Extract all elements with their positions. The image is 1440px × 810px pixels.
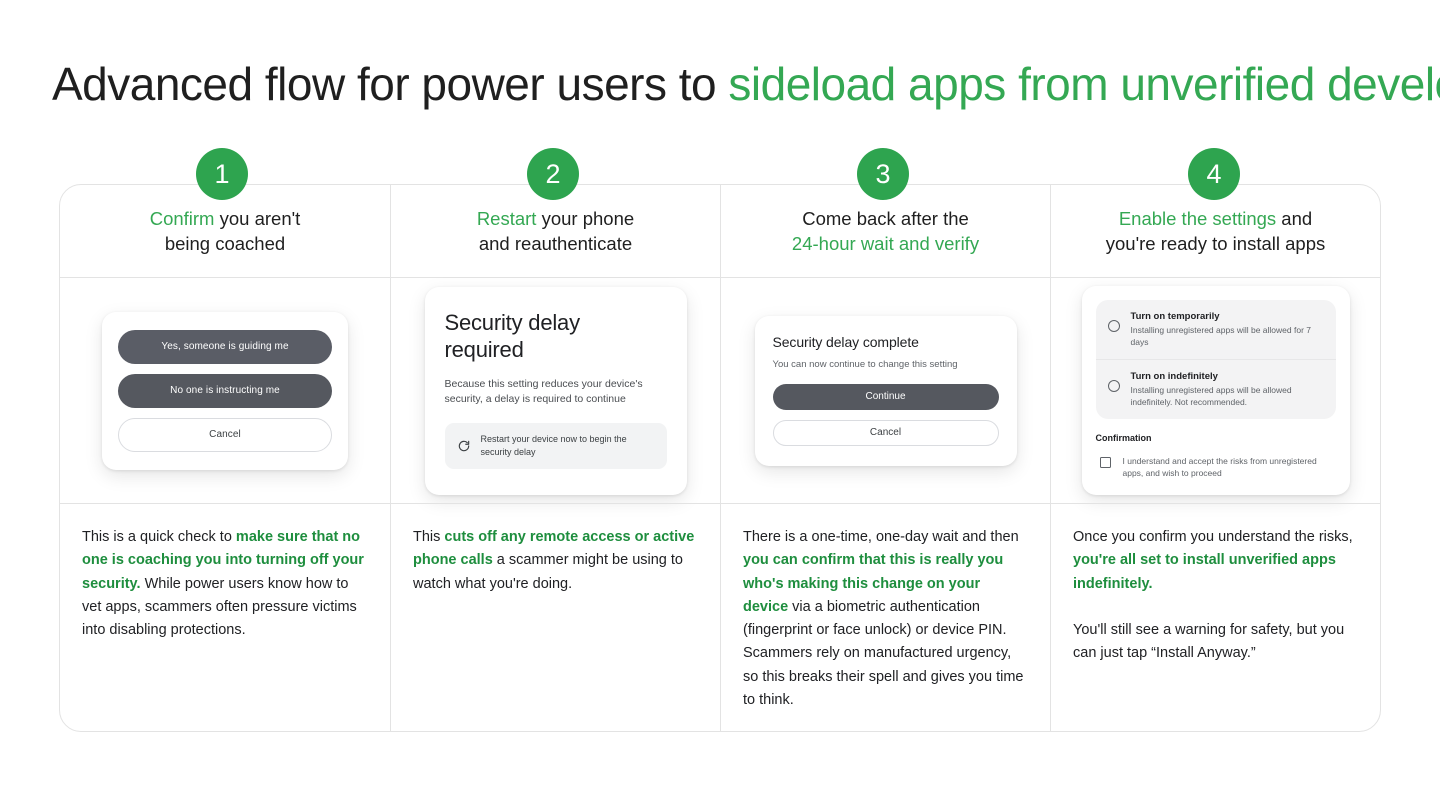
option-title: Turn on temporarily [1131,311,1324,322]
steps-grid: Confirm you aren't being coached Restart… [59,184,1381,732]
step-header-2-green: Restart [477,208,537,229]
option-turn-on-indefinitely[interactable]: Turn on indefinitely Installing unregist… [1096,359,1336,419]
delay-complete-title: Security delay complete [773,334,999,350]
infographic-page: Advanced flow for power users to sideloa… [0,0,1440,810]
security-delay-title: Security delay required [445,309,667,363]
restart-notice: Restart your device now to begin the sec… [445,423,667,469]
confirmation-row[interactable]: I understand and accept the risks from u… [1096,455,1336,479]
cancel-button[interactable]: Cancel [118,418,332,452]
cancel-button[interactable]: Cancel [773,420,999,446]
option-group: Turn on temporarily Installing unregiste… [1096,300,1336,419]
body-paragraph: You'll still see a warning for safety, b… [1073,619,1358,666]
checkbox-icon[interactable] [1100,457,1111,468]
step-badge-2: 2 [527,148,579,200]
page-title: Advanced flow for power users to sideloa… [52,57,1392,111]
continue-button[interactable]: Continue [773,384,999,410]
option-no-one-instructing-button[interactable]: No one is instructing me [118,374,332,408]
step-header-1-rest: you aren't [214,208,300,229]
step-header-2-line2: and reauthenticate [479,233,632,254]
step-body-1: This is a quick check to make sure that … [60,503,390,731]
step-header-4-green: Enable the settings [1119,208,1276,229]
security-delay-card: Security delay required Because this set… [425,287,687,495]
restart-notice-text: Restart your device now to begin the sec… [481,433,655,459]
refresh-icon [457,439,471,453]
step-header-3-line2: 24-hour wait and verify [792,233,979,254]
step-header-1-line2: being coached [165,233,285,254]
choice-dialog-card: Yes, someone is guiding me No one is ins… [102,312,348,470]
security-delay-subtitle: Because this setting reduces your device… [445,377,667,407]
security-delay-title-line1: Security delay [445,310,580,335]
plain-text: There is a one-time, one-day wait and th… [743,529,1019,545]
radio-icon[interactable] [1108,380,1120,392]
step-header-4-rest: and [1276,208,1312,229]
body-copy-4: Once you confirm you understand the risk… [1073,526,1358,665]
option-turn-on-temporarily[interactable]: Turn on temporarily Installing unregiste… [1096,300,1336,359]
option-title: Turn on indefinitely [1131,371,1324,382]
step-header-4-line2: you're ready to install apps [1106,233,1326,254]
step-body-3: There is a one-time, one-day wait and th… [720,503,1050,731]
confirmation-label: Confirmation [1096,433,1336,443]
delay-complete-card: Security delay complete You can now cont… [755,316,1017,466]
step-mockup-4: Turn on temporarily Installing unregiste… [1050,277,1380,503]
delay-complete-subtitle: You can now continue to change this sett… [773,359,999,370]
body-paragraph: This is a quick check to make sure that … [82,526,368,642]
body-paragraph: Once you confirm you understand the risk… [1073,526,1358,596]
plain-text: via a biometric authentication (fingerpr… [743,599,1023,708]
page-title-lead: Advanced flow for power users to [52,58,728,110]
plain-text: Once you confirm you understand the risk… [1073,529,1353,545]
plain-text: This [413,529,444,545]
option-description: Installing unregistered apps will be all… [1131,324,1324,348]
step-badge-1: 1 [196,148,248,200]
radio-icon[interactable] [1108,320,1120,332]
plain-text: This is a quick check to [82,529,236,545]
option-guiding-me-button[interactable]: Yes, someone is guiding me [118,330,332,364]
step-badge-4: 4 [1188,148,1240,200]
page-title-accent: sideload apps from unverified developers [728,58,1440,110]
step-badge-3: 3 [857,148,909,200]
step-mockup-1: Yes, someone is guiding me No one is ins… [60,277,390,503]
highlight-text: you're all set to install unverified app… [1073,552,1336,591]
option-description: Installing unregistered apps will be all… [1131,384,1324,408]
confirmation-text: I understand and accept the risks from u… [1123,455,1336,479]
body-copy-3: There is a one-time, one-day wait and th… [743,526,1028,712]
body-copy-1: This is a quick check to make sure that … [82,526,368,642]
step-mockup-2: Security delay required Because this set… [390,277,720,503]
step-header-2-rest: your phone [536,208,634,229]
plain-text: You'll still see a warning for safety, b… [1073,622,1344,661]
body-paragraph: There is a one-time, one-day wait and th… [743,526,1028,712]
body-copy-2: This cuts off any remote access or activ… [413,526,698,596]
step-body-4: Once you confirm you understand the risk… [1050,503,1380,731]
step-body-2: This cuts off any remote access or activ… [390,503,720,731]
step-mockup-3: Security delay complete You can now cont… [720,277,1050,503]
step-header-3-rest: Come back after the [802,208,969,229]
step-header-1-green: Confirm [150,208,215,229]
security-delay-title-line2: required [445,337,524,362]
settings-options-card: Turn on temporarily Installing unregiste… [1082,286,1350,495]
body-paragraph: This cuts off any remote access or activ… [413,526,698,596]
